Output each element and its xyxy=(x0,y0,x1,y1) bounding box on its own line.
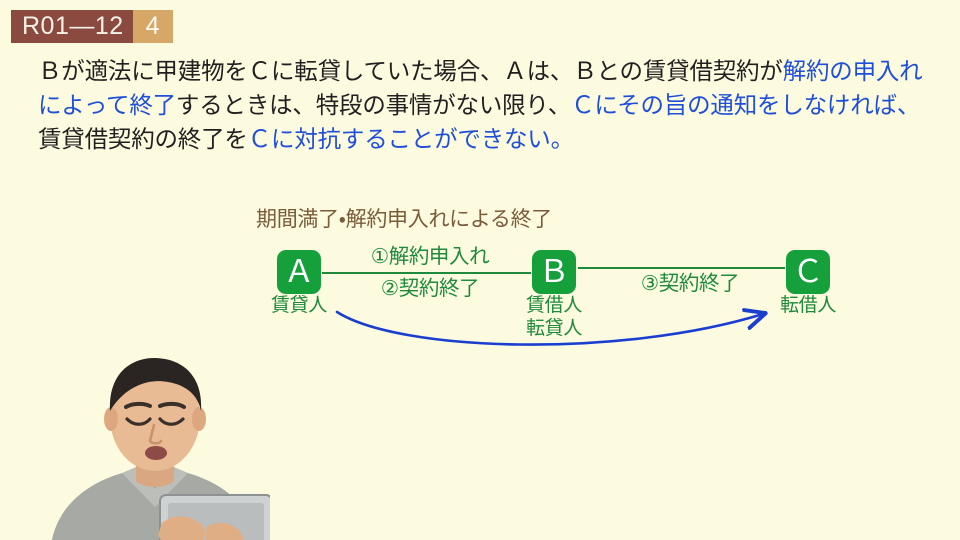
question-line-3: 賃貸借契約の終了をＣに対抗することができない。 xyxy=(38,122,938,156)
question-span-highlight: によって終了 xyxy=(38,92,176,118)
presenter-mouth xyxy=(145,446,167,460)
slide-canvas: R01—12 4 Ｂが適法に甲建物をＣに転貸していた場合、Ａは、Ｂとの賃貸借契約… xyxy=(0,0,960,540)
edge-label-contract-end-bc: ③契約終了 xyxy=(600,272,780,296)
presenter-ear-right xyxy=(192,407,206,431)
question-line-2: によって終了するときは、特段の事情がない限り、Ｃにその旨の通知をしなければ、 xyxy=(38,88,938,122)
question-span-highlight: 解約の申入れ xyxy=(783,58,923,84)
question-number-badge: 4 xyxy=(133,10,173,43)
question-span-highlight: Ｃに対抗することができない。 xyxy=(248,126,574,152)
diagram-node-c: Ｃ xyxy=(786,250,830,294)
diagram-node-label-c: 転借人 xyxy=(759,294,857,317)
edge-label-contract-end-ab: ②契約終了 xyxy=(330,277,530,301)
question-span: Ｂが適法に甲建物をＣに転貸していた場合、Ａは、Ｂとの賃貸借契約が xyxy=(38,58,783,84)
diagram-node-b: Ｂ xyxy=(532,250,576,294)
presenter-video-overlay xyxy=(40,355,270,540)
question-span: するときは、特段の事情がない限り、 xyxy=(176,92,571,118)
question-text: Ｂが適法に甲建物をＣに転貸していた場合、Ａは、Ｂとの賃貸借契約が解約の申入れ に… xyxy=(38,54,938,156)
diagram-heading: 期間満了・解約申入れによる終了 xyxy=(256,203,552,233)
question-span-highlight: Ｃにその旨の通知をしなければ、 xyxy=(571,92,920,118)
header-badge: R01—12 4 xyxy=(11,10,173,43)
edge-label-cancellation-request: ①解約申入れ xyxy=(330,245,530,269)
question-span: 賃貸借契約の終了を xyxy=(38,126,248,152)
presenter-ear-left xyxy=(104,407,118,431)
diagram-node-a: Ａ xyxy=(277,250,321,294)
question-line-1: Ｂが適法に甲建物をＣに転貸していた場合、Ａは、Ｂとの賃貸借契約が解約の申入れ xyxy=(38,54,938,88)
question-code-badge: R01—12 xyxy=(11,10,133,43)
